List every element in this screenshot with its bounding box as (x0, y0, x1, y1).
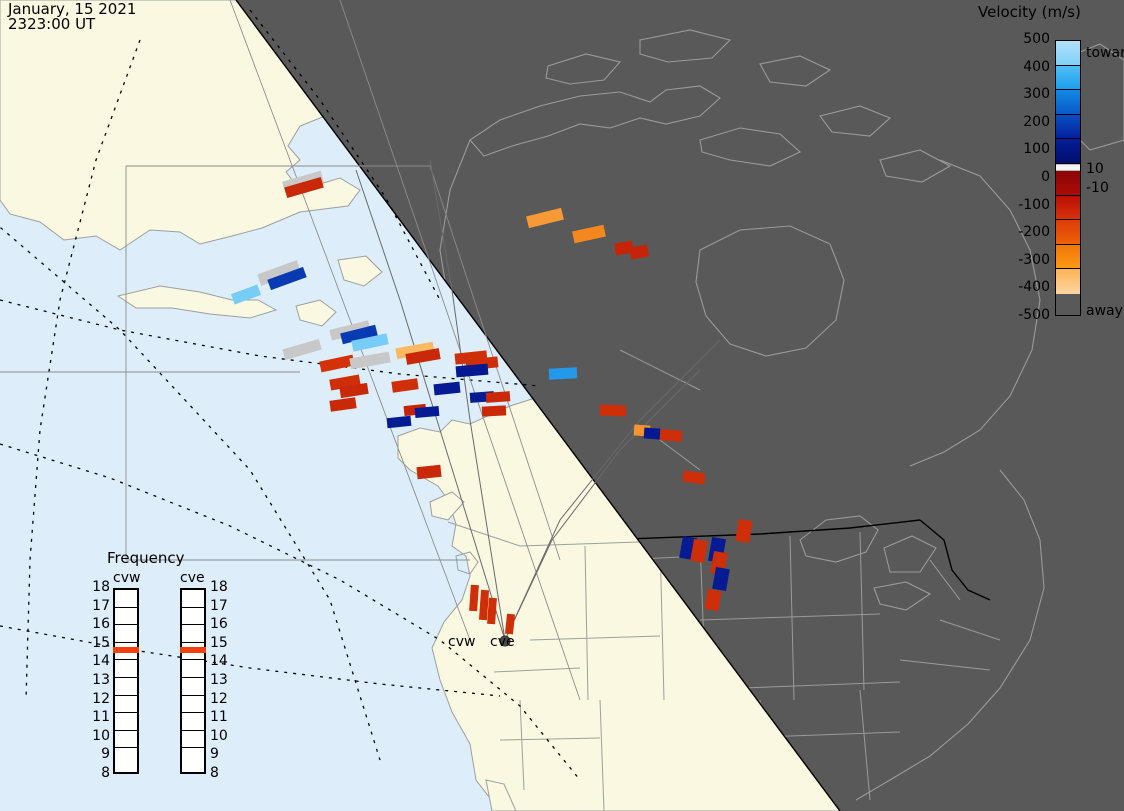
frequency-tick-right-8: 8 (210, 765, 232, 781)
timestamp-time: 2323:00 UT (8, 15, 95, 33)
frequency-tick-left-11: 11 (88, 709, 110, 725)
velocity-colorbar[interactable] (1055, 40, 1081, 316)
colorbar-zero-lower-label: -10 (1086, 180, 1109, 196)
frequency-cell (182, 731, 204, 749)
colorbar-away-label: away (1086, 303, 1123, 319)
colorbar-band-400..500 (1056, 41, 1080, 66)
scatter-cell (416, 465, 441, 479)
colorbar-tick--300: -300 (1002, 252, 1050, 268)
colorbar-band--500..-400 (1056, 269, 1080, 294)
scatter-cell (660, 429, 683, 442)
map-site-label-cve: cve (490, 634, 515, 650)
colorbar-tick-0: 0 (1002, 169, 1050, 185)
colorbar-tick--500: -500 (1002, 307, 1050, 323)
frequency-cell (182, 608, 204, 626)
frequency-tick-left-13: 13 (88, 672, 110, 688)
frequency-tick-left-14: 14 (88, 653, 110, 669)
colorbar-tick-100: 100 (1002, 141, 1050, 157)
colorbar-tick--100: -100 (1002, 197, 1050, 213)
frequency-tick-right-14: 14 (210, 653, 232, 669)
scatter-cell (415, 406, 440, 418)
frequency-cell (115, 713, 137, 731)
colorbar-band-300..400 (1056, 66, 1080, 91)
frequency-cell (182, 625, 204, 643)
frequency-tick-right-13: 13 (210, 672, 232, 688)
colorbar-tick--200: -200 (1002, 224, 1050, 240)
superdarn-fan-plot: January, 15 20212323:00 UT Velocity (m/s… (0, 0, 1124, 811)
frequency-tick-right-15: 15 (210, 635, 232, 651)
colorbar-band-100..200 (1056, 115, 1080, 140)
frequency-cell (115, 731, 137, 749)
colorbar-title: Velocity (m/s) (978, 3, 1081, 21)
colorbar-zero-upper-label: 10 (1086, 161, 1104, 177)
frequency-cell (115, 696, 137, 714)
frequency-cell (115, 678, 137, 696)
scatter-cell (482, 405, 506, 416)
colorbar-band--100..-10 (1056, 171, 1080, 196)
frequency-cell (182, 713, 204, 731)
frequency-tick-right-12: 12 (210, 691, 232, 707)
frequency-tick-left-17: 17 (88, 598, 110, 614)
frequency-cell (182, 748, 204, 767)
colorbar-tick-300: 300 (1002, 86, 1050, 102)
frequency-tick-right-16: 16 (210, 616, 232, 632)
map-canvas (0, 0, 1124, 811)
frequency-tick-left-18: 18 (88, 579, 110, 595)
colorbar-band--400..-300 (1056, 245, 1080, 270)
frequency-tick-right-9: 9 (210, 746, 232, 762)
frequency-cell (115, 748, 137, 767)
colorbar-band-200..300 (1056, 90, 1080, 115)
colorbar-tick-500: 500 (1002, 31, 1050, 47)
colorbar-tick-200: 200 (1002, 114, 1050, 130)
frequency-radar-label-cve: cve (180, 570, 205, 586)
frequency-marker-cve (180, 647, 206, 653)
colorbar-band--300..-200 (1056, 220, 1080, 245)
timestamp: January, 15 20212323:00 UT (8, 2, 136, 32)
frequency-title: Frequency (107, 549, 185, 567)
frequency-tick-left-12: 12 (88, 691, 110, 707)
frequency-tick-left-10: 10 (88, 728, 110, 744)
scatter-cell (549, 367, 578, 379)
frequency-cell (182, 660, 204, 678)
frequency-bar-cve[interactable] (180, 588, 206, 774)
scatter-cell (600, 405, 626, 417)
map-site-label-cvw: cvw (448, 634, 475, 650)
colorbar-band--200..-100 (1056, 196, 1080, 221)
frequency-tick-left-9: 9 (88, 746, 110, 762)
colorbar-toward-label: toward (1086, 45, 1124, 61)
frequency-bar-cvw[interactable] (113, 588, 139, 774)
frequency-tick-left-15: 15 (88, 635, 110, 651)
frequency-radar-label-cvw: cvw (113, 570, 140, 586)
frequency-cell (115, 608, 137, 626)
frequency-tick-left-8: 8 (88, 765, 110, 781)
colorbar-zero-band (1056, 164, 1080, 171)
colorbar-band-10..100 (1056, 139, 1080, 164)
frequency-cell (115, 590, 137, 608)
frequency-tick-right-17: 17 (210, 598, 232, 614)
frequency-cell (182, 590, 204, 608)
frequency-cell (182, 678, 204, 696)
frequency-tick-left-16: 16 (88, 616, 110, 632)
scatter-cell (644, 427, 661, 439)
colorbar-tick-400: 400 (1002, 59, 1050, 75)
scatter-cell (486, 391, 511, 403)
frequency-tick-right-18: 18 (210, 579, 232, 595)
frequency-cell (115, 625, 137, 643)
frequency-tick-right-11: 11 (210, 709, 232, 725)
frequency-cell (115, 660, 137, 678)
colorbar-tick--400: -400 (1002, 279, 1050, 295)
frequency-tick-right-10: 10 (210, 728, 232, 744)
frequency-marker-cvw (113, 647, 139, 653)
frequency-cell (182, 696, 204, 714)
